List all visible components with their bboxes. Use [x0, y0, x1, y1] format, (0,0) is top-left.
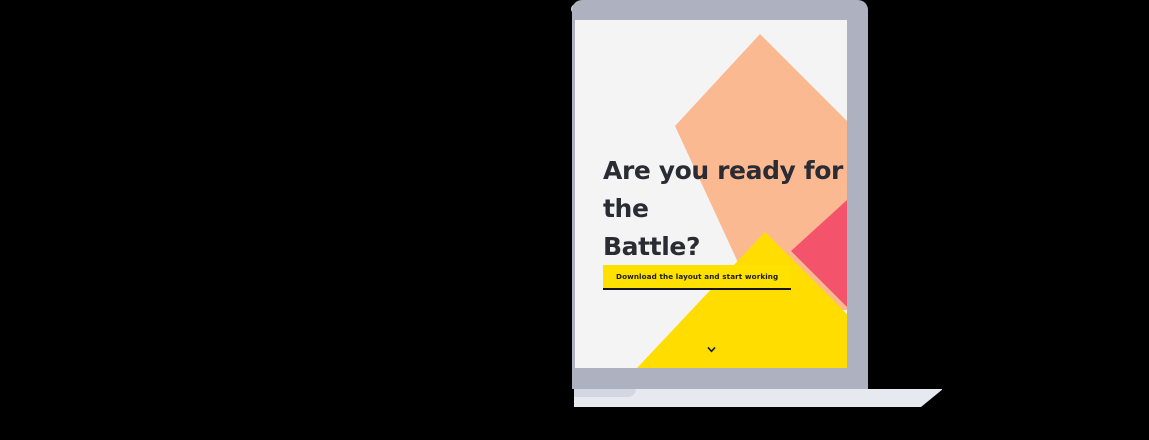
- chevron-down-icon[interactable]: [707, 345, 716, 354]
- laptop-screen: Are you ready for the Battle? The clash …: [575, 20, 847, 368]
- laptop-hinge-bar: [572, 373, 868, 389]
- download-layout-button[interactable]: Download the layout and start working: [603, 265, 791, 290]
- screenshot-stage: Are you ready for the Battle? The clash …: [0, 0, 1149, 440]
- website-hero-page: Are you ready for the Battle? The clash …: [575, 20, 847, 368]
- cta-container: Download the layout and start working: [603, 265, 791, 290]
- laptop-mockup: Are you ready for the Battle? The clash …: [0, 0, 1149, 440]
- laptop-deck-shadow: [574, 389, 636, 397]
- scroll-down-hint[interactable]: [575, 341, 847, 359]
- page-title: Are you ready for the Battle?: [603, 152, 847, 266]
